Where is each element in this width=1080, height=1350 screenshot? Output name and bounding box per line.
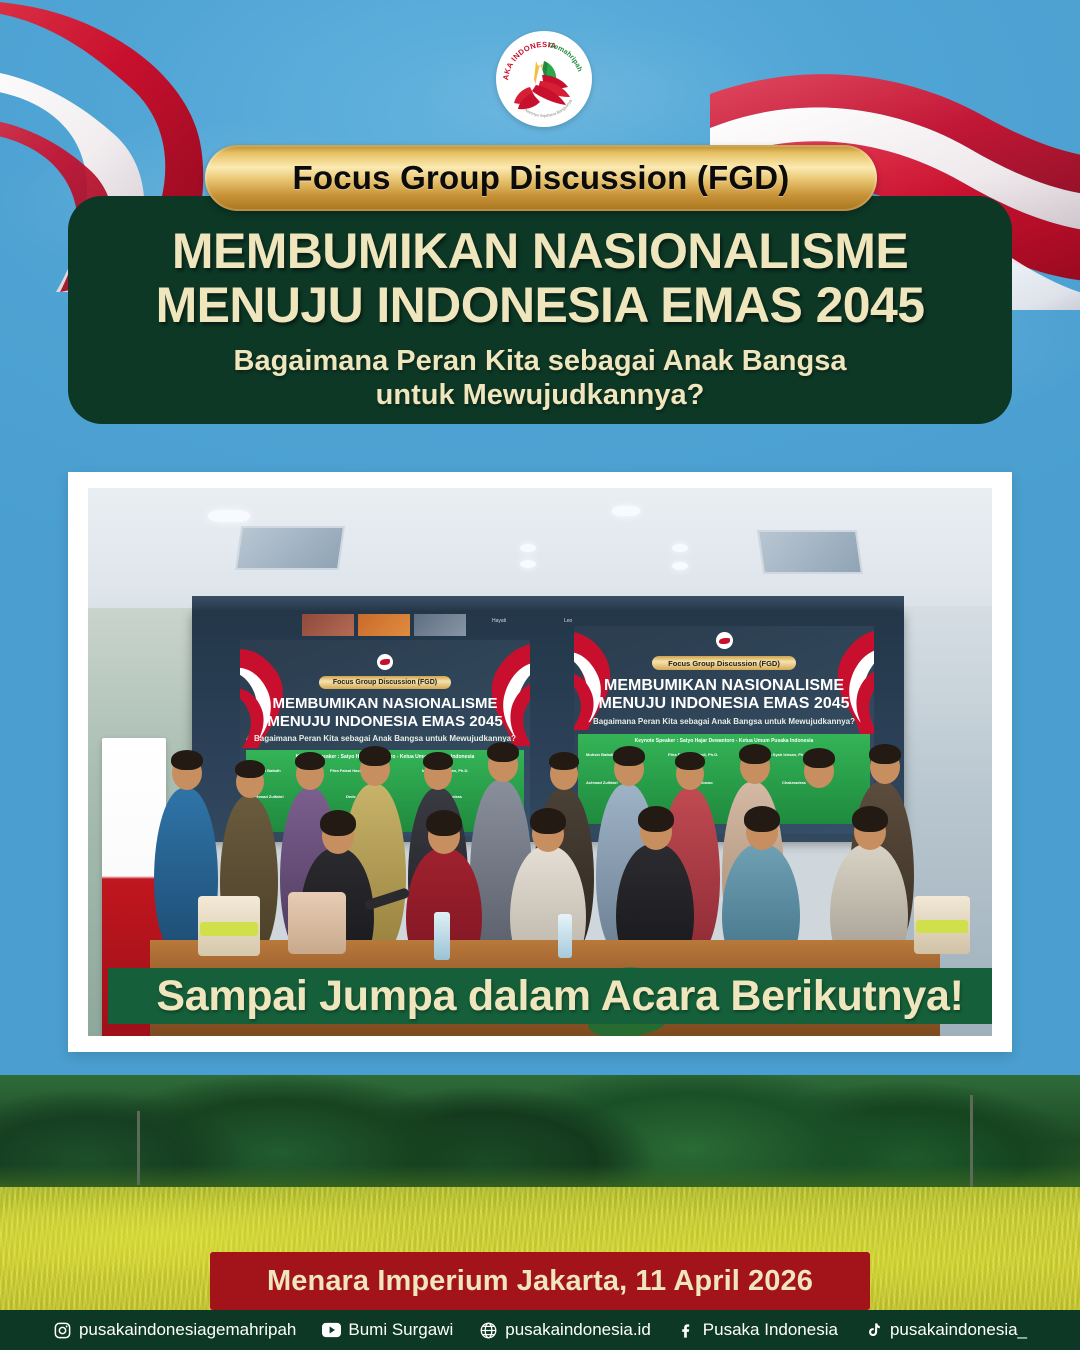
tiktok-icon	[864, 1321, 883, 1340]
footer-item-website[interactable]: pusakaindonesia.id	[479, 1320, 651, 1340]
seated-attendee-hair	[638, 806, 674, 832]
footer-item-tiktok[interactable]: pusakaindonesia_	[864, 1320, 1027, 1340]
slide-title-1: MEMBUMIKAN NASIONALISME	[240, 696, 530, 712]
screen-label-leo: Leo	[564, 618, 572, 624]
slide-badge: Focus Group Discussion (FGD)	[652, 656, 796, 670]
facebook-icon	[677, 1321, 696, 1340]
attendee-hair	[869, 744, 901, 764]
slide-title-2: MENUJU INDONESIA EMAS 2045	[240, 714, 530, 730]
attendee-hair	[235, 760, 265, 778]
ceiling-light	[520, 544, 536, 552]
ceiling-light	[672, 544, 688, 552]
social-footer: pusakaindonesiagemahripah Bumi Surgawi	[0, 1310, 1080, 1350]
seated-attendee-hair	[852, 806, 888, 832]
attendee-hair	[739, 744, 771, 764]
poster-canvas: PUSAKA INDONESIA Gemahripah Lestari Alam…	[0, 0, 1080, 1350]
seated-attendee-hair	[426, 810, 462, 836]
slide-speaker-item: Muhsin Bafadh	[586, 752, 615, 758]
slide-subtitle: Bagaimana Peran Kita sebagai Anak Bangsa…	[240, 734, 530, 743]
attendee-hair	[549, 752, 579, 770]
attendee-hair	[613, 746, 645, 766]
ceiling-light	[612, 506, 640, 516]
footer-label: pusakaindonesia.id	[505, 1320, 651, 1340]
event-photo-frame: Hayati Leo	[68, 472, 1012, 1052]
attendee-hair	[675, 752, 705, 770]
title-line-2: MENUJU INDONESIA EMAS 2045	[68, 278, 1012, 332]
footer-label: Bumi Surgawi	[348, 1320, 453, 1340]
attendee-hair	[295, 752, 325, 770]
subtitle-line-2: untuk Mewujudkannya?	[68, 378, 1012, 412]
slide-badge: Focus Group Discussion (FGD)	[319, 676, 451, 689]
light-pole	[137, 1111, 140, 1185]
ceiling-vent	[235, 526, 345, 570]
ceiling-light	[208, 510, 250, 522]
slide-title-2: MENUJU INDONESIA EMAS 2045	[574, 696, 874, 713]
footer-label: Pusaka Indonesia	[703, 1320, 838, 1340]
footer-label: pusakaindonesiagemahripah	[79, 1320, 296, 1340]
fgd-badge-label: Focus Group Discussion (FGD)	[293, 159, 790, 197]
title-card: MEMBUMIKAN NASIONALISME MENUJU INDONESIA…	[68, 196, 1012, 424]
water-bottle	[434, 912, 450, 960]
gift-ribbon	[200, 922, 258, 936]
slide-title-1: MEMBUMIKAN NASIONALISME	[574, 678, 874, 695]
light-pole	[970, 1095, 973, 1187]
slide-keynote: Keynote Speaker : Satyo Hajar Dewantoro …	[578, 738, 870, 746]
seated-attendee-hair	[530, 808, 566, 834]
photo-banner: Sampai Jumpa dalam Acara Berikutnya!	[108, 968, 992, 1024]
footer-item-facebook[interactable]: Pusaka Indonesia	[677, 1320, 838, 1340]
ceiling-vent	[757, 530, 863, 574]
page-subtitle: Bagaimana Peran Kita sebagai Anak Bangsa…	[68, 344, 1012, 412]
instagram-icon	[53, 1321, 72, 1340]
location-bar: Menara Imperium Jakarta, 11 April 2026	[210, 1252, 870, 1310]
attendee-hair	[487, 742, 519, 762]
fgd-badge: Focus Group Discussion (FGD)	[205, 145, 877, 211]
footer-item-instagram[interactable]: pusakaindonesiagemahripah	[53, 1320, 296, 1340]
event-photo: Hayati Leo	[88, 488, 992, 1036]
youtube-icon	[322, 1321, 341, 1340]
screen-thumbnail	[414, 614, 466, 636]
page-title: MEMBUMIKAN NASIONALISME MENUJU INDONESIA…	[68, 224, 1012, 332]
globe-icon	[479, 1321, 498, 1340]
attendee-hair	[803, 748, 835, 768]
photo-banner-text: Sampai Jumpa dalam Acara Berikutnya!	[156, 972, 963, 1021]
handbag	[288, 892, 346, 954]
attendee-hair	[171, 750, 203, 770]
slide-speaker-item: Achmad Zulfabri	[586, 780, 618, 786]
ceiling-light	[520, 560, 536, 568]
title-line-1: MEMBUMIKAN NASIONALISME	[68, 224, 1012, 278]
gift-ribbon	[916, 920, 968, 933]
location-text: Menara Imperium Jakarta, 11 April 2026	[267, 1265, 813, 1298]
seated-attendee-hair	[744, 806, 780, 832]
seated-attendee-hair	[320, 810, 356, 836]
slide-logo	[716, 632, 733, 649]
slide-subtitle: Bagaimana Peran Kita sebagai Anak Bangsa…	[574, 717, 874, 726]
attendee-hair	[423, 752, 453, 770]
screen-label-hayati: Hayati	[492, 618, 506, 624]
screen-thumbnail	[302, 614, 354, 636]
tree-line	[0, 1075, 1080, 1195]
screen-thumbnail	[358, 614, 410, 636]
footer-item-youtube[interactable]: Bumi Surgawi	[322, 1320, 453, 1340]
footer-label: pusakaindonesia_	[890, 1320, 1027, 1340]
slide-logo	[377, 654, 393, 670]
subtitle-line-1: Bagaimana Peran Kita sebagai Anak Bangsa	[68, 344, 1012, 378]
attendee-hair	[359, 746, 391, 766]
pusaka-indonesia-logo: PUSAKA INDONESIA Gemahripah Lestari Alam…	[496, 31, 592, 127]
ceiling-light	[672, 562, 688, 570]
slide-speaker-item: Chakrawiras	[782, 780, 806, 786]
